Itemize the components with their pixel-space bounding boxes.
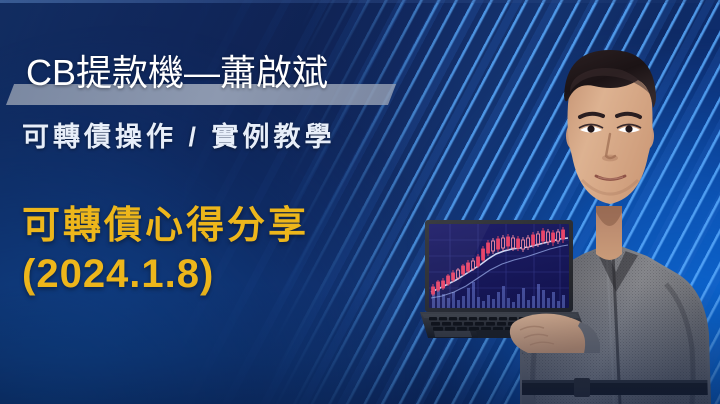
presenter-hand xyxy=(510,314,600,353)
brand-title: CB提款機—蕭啟斌 xyxy=(26,52,328,94)
text-block: CB提款機—蕭啟斌 可轉債操作 / 實例教學 可轉債心得分享 (2024.1.8… xyxy=(0,0,440,404)
brand-subtitle: 可轉債操作 / 實例教學 xyxy=(22,120,336,154)
laptop-with-stock-chart xyxy=(420,218,600,353)
headline-line-1: 可轉債心得分享 xyxy=(22,205,309,247)
video-thumbnail: CB提款機—蕭啟斌 可轉債操作 / 實例教學 可轉債心得分享 (2024.1.8… xyxy=(0,0,720,404)
headline-line-2: (2024.1.8) xyxy=(22,250,309,298)
headline: 可轉債心得分享 (2024.1.8) xyxy=(22,202,309,298)
